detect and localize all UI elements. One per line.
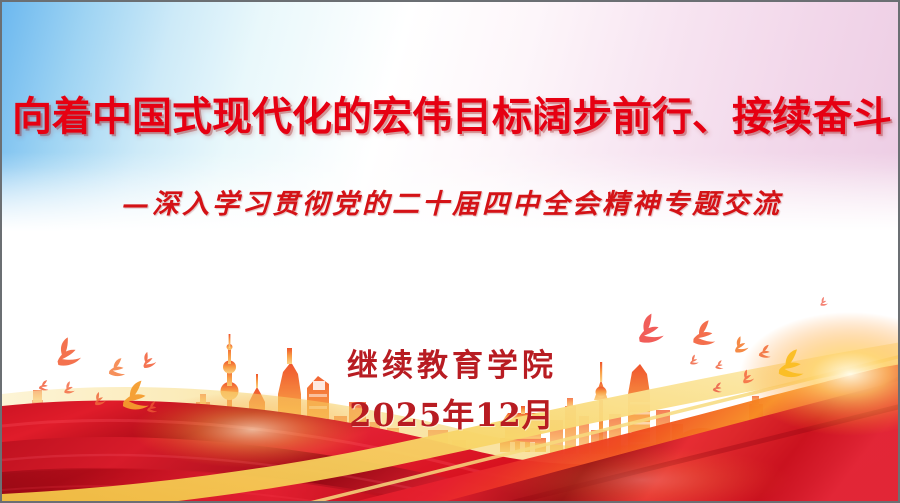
slide-date: 2025年12月 bbox=[2, 390, 900, 436]
slide-subtitle: —深入学习贯彻党的二十届四中全会精神专题交流 bbox=[2, 182, 900, 221]
slide-main-title: 向着中国式现代化的宏伟目标阔步前行、接续奋斗 bbox=[2, 94, 900, 140]
organization-name: 继续教育学院 bbox=[2, 340, 900, 385]
presentation-slide: 向着中国式现代化的宏伟目标阔步前行、接续奋斗 —深入学习贯彻党的二十届四中全会精… bbox=[0, 0, 900, 503]
